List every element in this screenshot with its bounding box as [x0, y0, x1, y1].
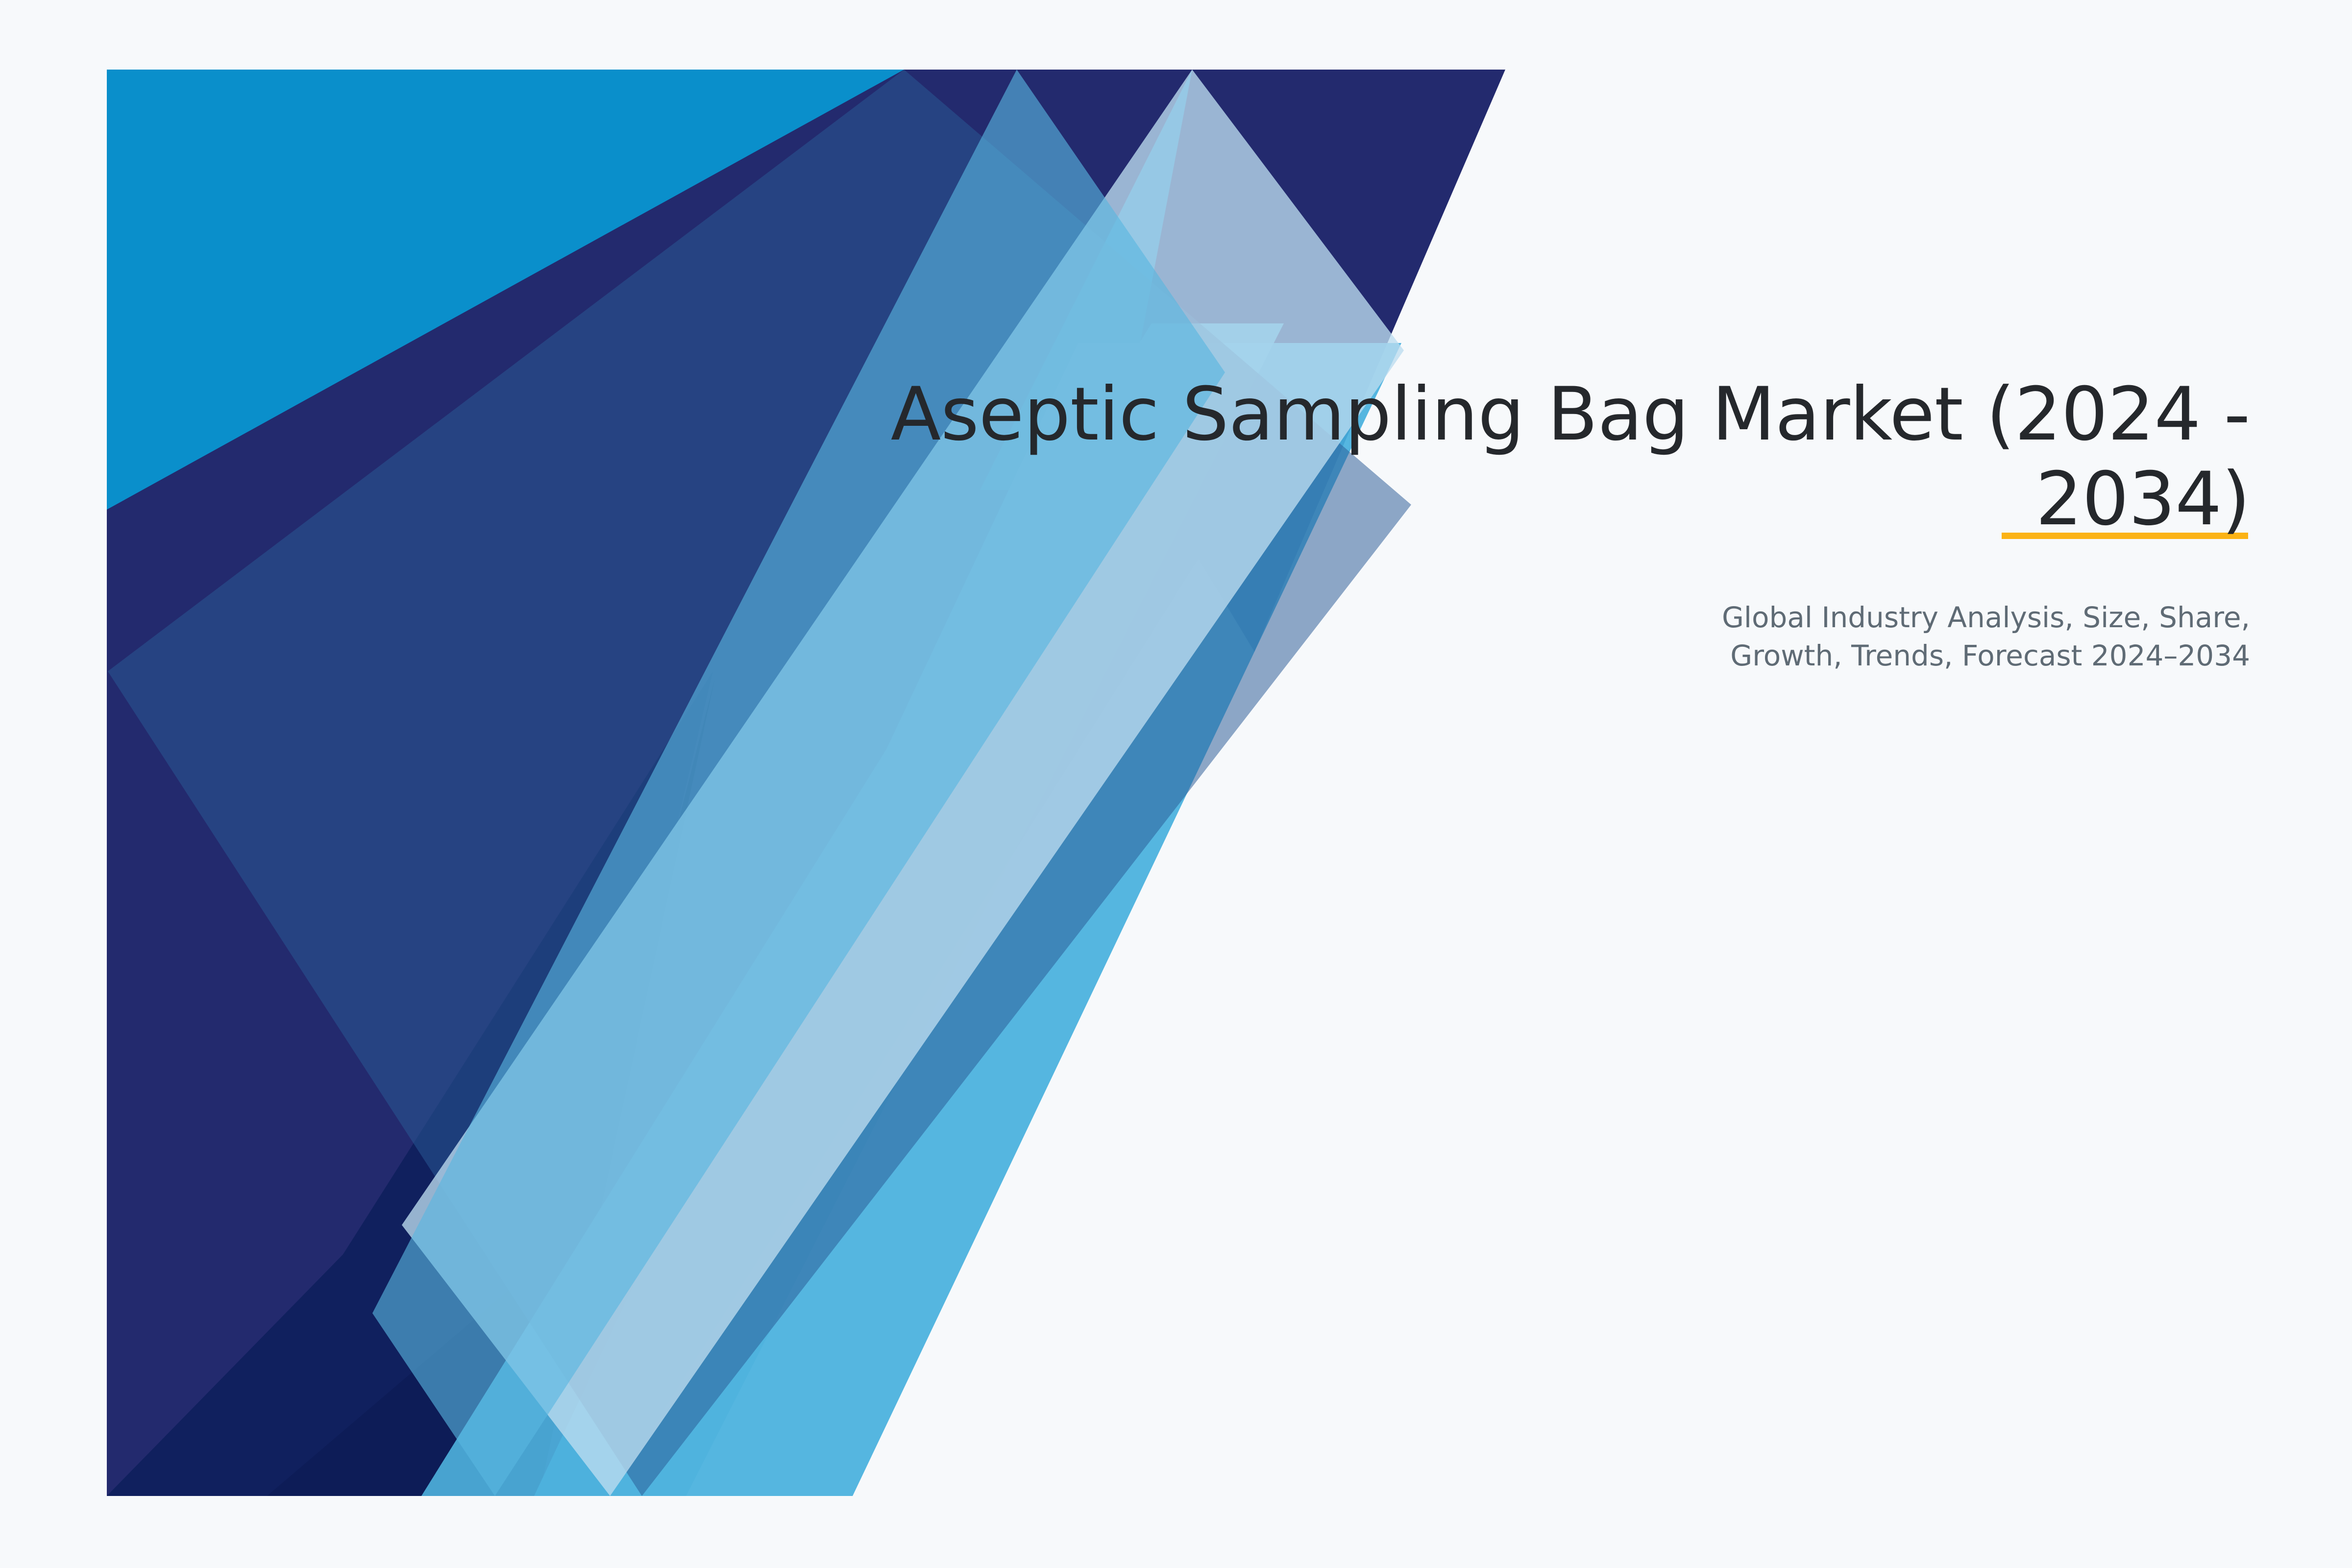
title-wrapper: Aseptic Sampling Bag Market (2024 - 2034… — [804, 372, 2250, 541]
cover-page: Aseptic Sampling Bag Market (2024 - 2034… — [0, 0, 2352, 1568]
cover-text-block: Aseptic Sampling Bag Market (2024 - 2034… — [804, 372, 2250, 675]
page-title: Aseptic Sampling Bag Market (2024 - 2034… — [804, 372, 2250, 541]
page-subtitle: Global Industry Analysis, Size, Share, G… — [804, 598, 2250, 675]
abstract-geometric-artwork — [0, 0, 2352, 1568]
